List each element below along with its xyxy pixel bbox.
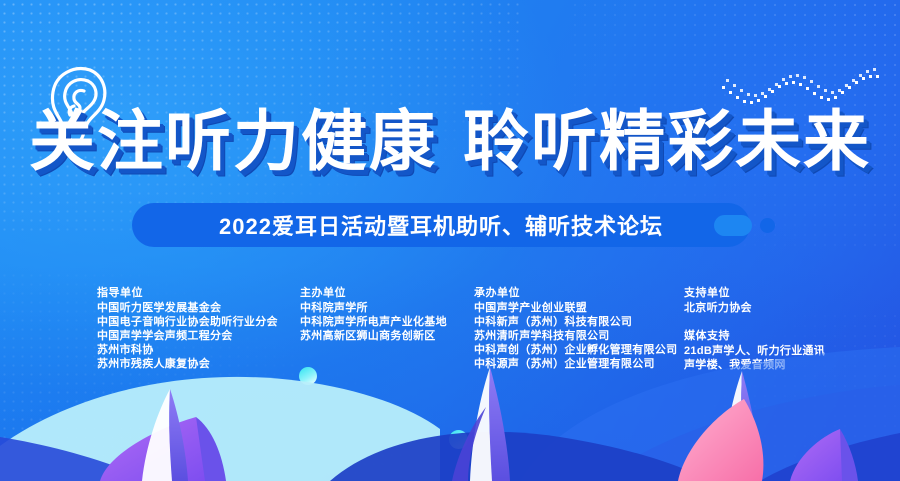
credit-line: 中科院声学所电声产业化基地 — [300, 315, 447, 329]
event-poster: 关注听力健康聆听精彩未来 2022爱耳日活动暨耳机助听、辅听技术论坛 指导单位 … — [0, 0, 900, 481]
subtitle-area: 2022爱耳日活动暨耳机助听、辅听技术论坛 — [0, 203, 900, 247]
subtitle: 2022爱耳日活动暨耳机助听、辅听技术论坛 — [132, 203, 750, 247]
headline-part-2: 聆听精彩未来 — [463, 104, 871, 178]
subtitle-dot-decoration — [760, 218, 775, 233]
credit-line: 中国听力医学发展基金会 — [97, 301, 278, 315]
credit-group-title: 指导单位 — [97, 286, 278, 300]
bottom-scenery — [0, 341, 900, 481]
headline-part-1: 关注听力健康 — [29, 104, 437, 178]
credit-line: 中国声学产业创业联盟 — [474, 301, 677, 315]
credit-group: 主办单位 中科院声学所 中科院声学所电声产业化基地 苏州高新区狮山商务创新区 — [300, 286, 447, 343]
credit-group: 支持单位 北京听力协会 — [684, 286, 825, 315]
credit-line: 北京听力协会 — [684, 301, 825, 315]
credit-line: 中科院声学所 — [300, 301, 447, 315]
page-title: 关注听力健康聆听精彩未来 — [0, 108, 900, 174]
credit-line: 中科新声（苏州）科技有限公司 — [474, 315, 677, 329]
credit-line: 中国电子音响行业协会助听行业分会 — [97, 315, 278, 329]
credit-group-title: 主办单位 — [300, 286, 447, 300]
credit-group-title: 支持单位 — [684, 286, 825, 300]
credits-column-organizer: 主办单位 中科院声学所 中科院声学所电声产业化基地 苏州高新区狮山商务创新区 — [300, 286, 447, 343]
credit-group-title: 承办单位 — [474, 286, 677, 300]
